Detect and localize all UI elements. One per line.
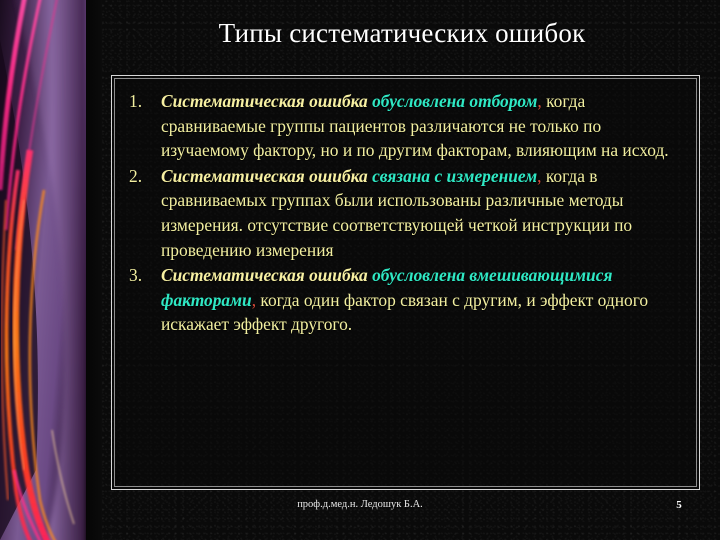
art-light-streaks-svg [0, 0, 86, 540]
list-item: 1. Систематическая ошибка обусловлена от… [127, 89, 684, 163]
content-frame: 1. Систематическая ошибка обусловлена от… [111, 75, 700, 490]
list-item-body: Систематическая ошибка обусловлена отбор… [161, 89, 684, 163]
page-title: Типы систематических ошибок [102, 16, 702, 50]
emphasis-cyan: обусловлена отбором [372, 91, 537, 111]
bullet-list: 1. Систематическая ошибка обусловлена от… [127, 89, 684, 337]
list-item-body: Систематическая ошибка связана с измерен… [161, 164, 684, 262]
list-item-number: 3. [129, 263, 155, 288]
emphasis-yellow: Систематическая ошибка [161, 91, 372, 111]
list-item-body: Систематическая ошибка обусловлена вмеши… [161, 263, 684, 337]
page-number: 5 [668, 498, 690, 512]
list-item-number: 2. [129, 164, 155, 189]
emphasis-yellow: Систематическая ошибка [161, 166, 372, 186]
content-inner: 1. Систематическая ошибка обусловлена от… [114, 78, 697, 487]
slide: Типы систематических ошибок 1. Системати… [0, 0, 720, 540]
decorative-left-border [0, 0, 86, 540]
emphasis-yellow: Систематическая ошибка [161, 265, 372, 285]
art-gutter [86, 0, 102, 540]
list-item-number: 1. [129, 89, 155, 114]
emphasis-cyan: связана с измерением [372, 166, 537, 186]
list-item: 2. Систематическая ошибка связана с изме… [127, 164, 684, 262]
footer-author-note: проф.д.мед.н. Ледошук Б.А. [0, 498, 720, 512]
list-item: 3. Систематическая ошибка обусловлена вм… [127, 263, 684, 337]
